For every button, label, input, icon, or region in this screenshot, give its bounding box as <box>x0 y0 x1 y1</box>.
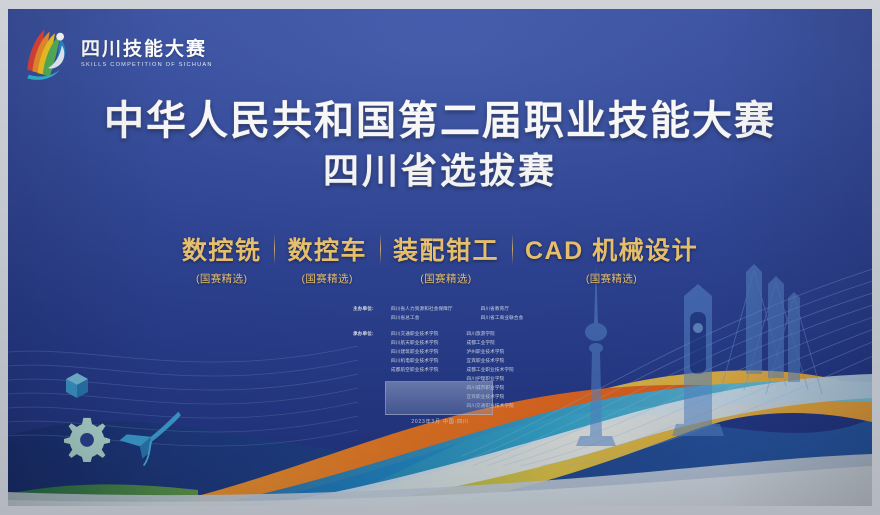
credit-entry: 四川机电职业技术学院 <box>391 357 438 366</box>
credit-entry: 成都航空职业技术学院 <box>391 366 438 375</box>
subject-list: 数控铣(国赛精选)数控车(国赛精选)装配钳工(国赛精选)CAD 机械设计(国赛精… <box>8 231 872 286</box>
subject-item: 数控铣(国赛精选) <box>169 231 275 286</box>
credit-entry: 四川旅游学院 <box>466 330 513 339</box>
page-title-line1: 中华人民共和国第二届职业技能大赛 <box>8 97 872 146</box>
credit-entry: 四川航天职业技术学院 <box>391 339 438 348</box>
event-logo: 四川技能大赛 SKILLS COMPETITION OF SICHUAN <box>22 23 192 85</box>
credit-block: 主办单位:四川省人力资源和社会保障厅四川省总工会四川省教育厅四川省工商业联合会 <box>353 305 613 323</box>
monument-building-icon <box>672 284 724 436</box>
subject-name: CAD 机械设计 <box>525 231 698 267</box>
isometric-cube-icon <box>64 371 90 401</box>
credit-label: 承办单位: <box>353 330 387 411</box>
poster-screenshot: 四川技能大赛 SKILLS COMPETITION OF SICHUAN 中华人… <box>0 0 880 515</box>
subject-subtitle: (国赛精选) <box>586 271 637 286</box>
subject-name: 数控车 <box>287 231 367 267</box>
subject-item: CAD 机械设计(国赛精选) <box>512 231 711 286</box>
credit-columns: 四川省人力资源和社会保障厅四川省总工会四川省教育厅四川省工商业联合会 <box>391 305 613 323</box>
credit-entry: 四川省工商业联合会 <box>481 314 524 323</box>
credit-column: 四川省人力资源和社会保障厅四川省总工会 <box>391 305 453 323</box>
logo-title-cn: 四川技能大赛 <box>81 40 213 60</box>
logo-title-en: SKILLS COMPETITION OF SICHUAN <box>81 62 213 68</box>
subject-item: 数控车(国赛精选) <box>274 231 380 286</box>
banner-title-block: 中华人民共和国第二届职业技能大赛 四川省选拔赛 <box>8 97 872 195</box>
event-date-location: 2023年3月 中国·四川 <box>8 418 872 425</box>
subject-name: 装配钳工 <box>393 231 499 267</box>
credit-entry: 宜宾职业技术学院 <box>466 357 513 366</box>
credit-entry: 四川交通职业技术学院 <box>391 330 438 339</box>
credit-entry: 成都工业职业技术学院 <box>466 366 513 375</box>
subject-name: 数控铣 <box>182 231 262 267</box>
airplane-icon <box>116 407 188 469</box>
page-title-line2: 四川省选拔赛 <box>8 148 872 195</box>
credit-entry: 四川省人力资源和社会保障厅 <box>391 305 453 314</box>
credit-entry: 泸州职业技术学院 <box>466 348 513 357</box>
subject-item: 装配钳工(国赛精选) <box>380 231 512 286</box>
sichuan-skills-flame-logo-icon <box>22 26 74 82</box>
subject-subtitle: (国赛精选) <box>196 271 247 286</box>
event-banner-board: 四川技能大赛 SKILLS COMPETITION OF SICHUAN 中华人… <box>8 9 872 506</box>
subject-subtitle: (国赛精选) <box>420 271 471 286</box>
placeholder-panel <box>385 381 493 415</box>
credit-entry: 成都工业学院 <box>466 339 513 348</box>
subject-subtitle: (国赛精选) <box>301 271 352 286</box>
credit-entry: 四川建筑职业技术学院 <box>391 348 438 357</box>
credit-entry: 四川省总工会 <box>391 314 453 323</box>
credit-label: 主办单位: <box>353 305 387 323</box>
credit-column: 四川省教育厅四川省工商业联合会 <box>481 305 524 323</box>
credit-entry: 四川省教育厅 <box>481 305 524 314</box>
